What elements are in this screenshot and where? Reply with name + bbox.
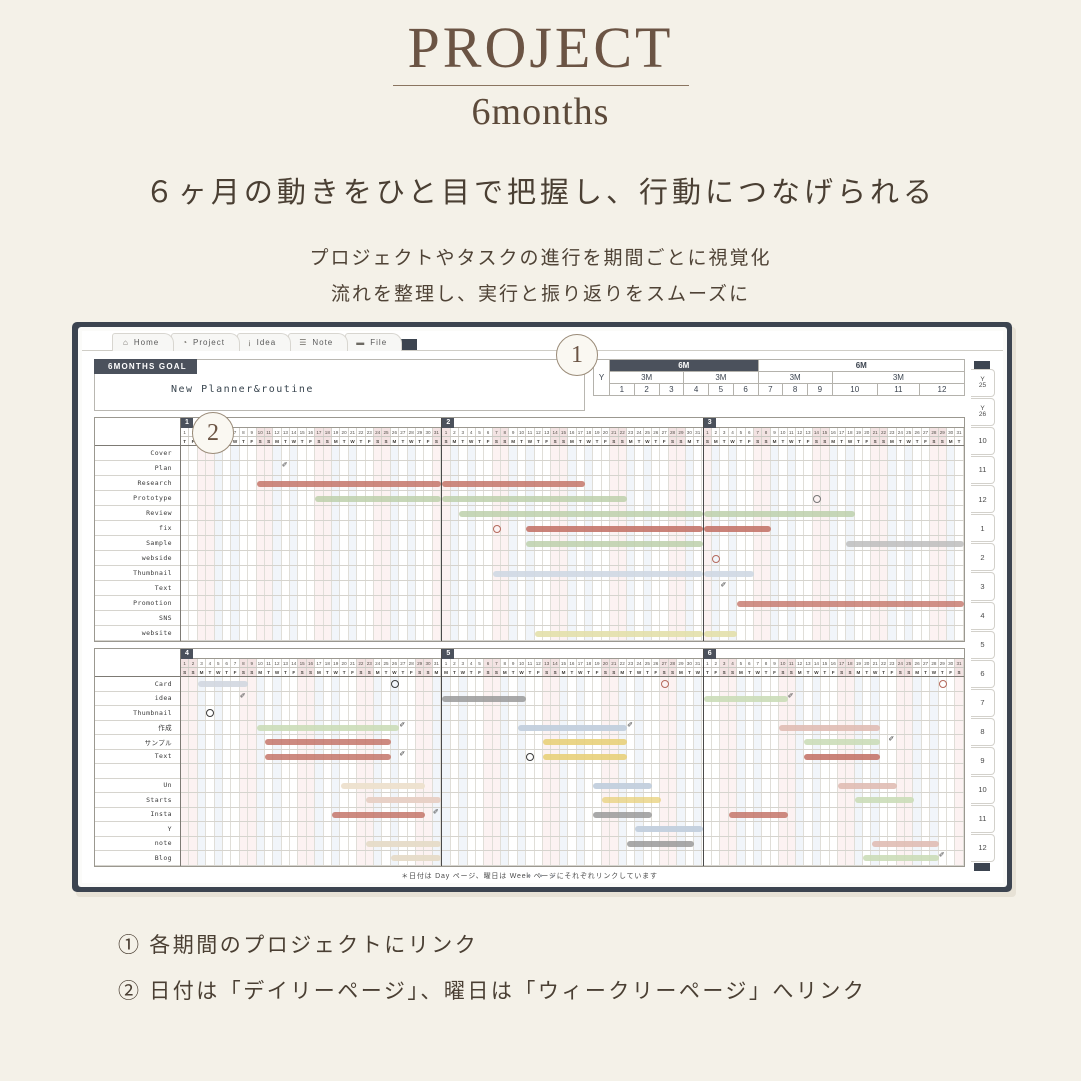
gantt-cell[interactable]: [888, 822, 896, 836]
gantt-cell[interactable]: [307, 611, 315, 625]
gantt-cell[interactable]: [602, 837, 610, 851]
gantt-cell[interactable]: [551, 677, 559, 691]
day-number[interactable]: 20: [863, 428, 871, 436]
weekday-letter[interactable]: T: [686, 668, 694, 676]
gantt-cell[interactable]: [922, 506, 930, 520]
gantt-cell[interactable]: [813, 581, 821, 595]
gantt-cell[interactable]: [947, 506, 955, 520]
day-number[interactable]: 14: [813, 428, 821, 436]
gantt-cell[interactable]: [644, 476, 652, 490]
gantt-cell[interactable]: [451, 566, 459, 580]
gantt-cell[interactable]: [871, 692, 879, 706]
gantt-cell[interactable]: [754, 581, 762, 595]
weekday-letter[interactable]: W: [635, 668, 643, 676]
gantt-cell[interactable]: [846, 476, 854, 490]
side-tab-12-16[interactable]: 12: [971, 834, 995, 862]
gantt-cell[interactable]: [771, 822, 779, 836]
gantt-cell[interactable]: [939, 808, 947, 822]
gantt-cell[interactable]: [635, 551, 643, 565]
day-number[interactable]: 29: [939, 428, 947, 436]
weekday-letter[interactable]: M: [198, 668, 206, 676]
gantt-cell[interactable]: [804, 566, 812, 580]
gantt-track-row[interactable]: [181, 626, 441, 641]
gantt-cell[interactable]: [543, 446, 551, 460]
gantt-cell[interactable]: [391, 461, 399, 475]
gantt-cell[interactable]: [324, 596, 332, 610]
gantt-cell[interactable]: [947, 551, 955, 565]
gantt-cell[interactable]: [720, 476, 728, 490]
gantt-cell[interactable]: [669, 476, 677, 490]
gantt-cell[interactable]: [181, 596, 189, 610]
gantt-cell[interactable]: [399, 506, 407, 520]
day-number[interactable]: 30: [686, 428, 694, 436]
gantt-cell[interactable]: [206, 851, 214, 865]
gantt-cell[interactable]: [754, 779, 762, 793]
gantt-cell[interactable]: [686, 851, 694, 865]
gantt-cell[interactable]: [416, 506, 424, 520]
gantt-cell[interactable]: [290, 851, 298, 865]
gantt-cell[interactable]: [704, 764, 712, 778]
gantt-cell[interactable]: [433, 461, 441, 475]
gantt-cell[interactable]: [804, 793, 812, 807]
gantt-cell[interactable]: [821, 536, 829, 550]
tab-note[interactable]: ☰Note: [288, 333, 348, 351]
gantt-cell[interactable]: [298, 764, 306, 778]
gantt-cell[interactable]: [905, 566, 913, 580]
gantt-cell[interactable]: [694, 793, 702, 807]
month-cell-7[interactable]: 7: [758, 384, 783, 396]
gantt-cell[interactable]: [720, 596, 728, 610]
gantt-cell[interactable]: [442, 677, 450, 691]
weekday-letter[interactable]: S: [939, 437, 947, 445]
gantt-cell[interactable]: [357, 764, 365, 778]
gantt-cell[interactable]: [871, 677, 879, 691]
weekday-letter[interactable]: S: [382, 437, 390, 445]
gantt-cell[interactable]: [922, 521, 930, 535]
gantt-cell[interactable]: [955, 851, 963, 865]
gantt-cell[interactable]: [871, 491, 879, 505]
gantt-cell[interactable]: [509, 793, 517, 807]
gantt-cell[interactable]: [880, 750, 888, 764]
gantt-cell[interactable]: [838, 837, 846, 851]
gantt-cell[interactable]: [804, 692, 812, 706]
gantt-cell[interactable]: [189, 506, 197, 520]
weekday-letter[interactable]: W: [930, 668, 938, 676]
day-number[interactable]: 27: [660, 428, 668, 436]
gantt-cell[interactable]: [788, 446, 796, 460]
weekday-letter[interactable]: S: [821, 437, 829, 445]
gantt-cell[interactable]: [897, 822, 905, 836]
gantt-cell[interactable]: [240, 596, 248, 610]
day-number[interactable]: 10: [779, 428, 787, 436]
gantt-cell[interactable]: [408, 677, 416, 691]
gantt-cell[interactable]: [290, 822, 298, 836]
weekday-letter[interactable]: T: [399, 437, 407, 445]
gantt-cell[interactable]: [577, 793, 585, 807]
gantt-cell[interactable]: [265, 793, 273, 807]
gantt-cell[interactable]: [947, 566, 955, 580]
weekday-letter-row[interactable]: SMTWTFSSMTWTFSSMTWTFSSMTWTFSSMT: [442, 437, 702, 446]
gantt-cell[interactable]: [223, 491, 231, 505]
day-number[interactable]: 9: [248, 659, 256, 667]
gantt-bar[interactable]: [593, 783, 652, 789]
gantt-cell[interactable]: [939, 506, 947, 520]
gantt-cell[interactable]: [788, 677, 796, 691]
gantt-cell[interactable]: [686, 476, 694, 490]
gantt-cell[interactable]: [947, 446, 955, 460]
day-number[interactable]: 24: [897, 428, 905, 436]
day-number[interactable]: 12: [796, 659, 804, 667]
gantt-cell[interactable]: [416, 566, 424, 580]
gantt-cell[interactable]: [838, 677, 846, 691]
gantt-cell[interactable]: [660, 721, 668, 735]
weekday-letter[interactable]: S: [838, 668, 846, 676]
gantt-cell[interactable]: [686, 581, 694, 595]
gantt-cell[interactable]: [888, 476, 896, 490]
gantt-cell[interactable]: [568, 779, 576, 793]
gantt-cell[interactable]: [298, 793, 306, 807]
gantt-cell[interactable]: [459, 581, 467, 595]
day-number[interactable]: 7: [754, 428, 762, 436]
gantt-cell[interactable]: [788, 808, 796, 822]
gantt-cell[interactable]: [366, 692, 374, 706]
gantt-cell[interactable]: [771, 764, 779, 778]
gantt-cell[interactable]: [476, 764, 484, 778]
gantt-cell[interactable]: [863, 764, 871, 778]
gantt-cell[interactable]: [729, 706, 737, 720]
gantt-cell[interactable]: [273, 706, 281, 720]
gantt-cell[interactable]: [644, 491, 652, 505]
gantt-cell[interactable]: [340, 822, 348, 836]
gantt-cell[interactable]: [223, 596, 231, 610]
gantt-cell[interactable]: [468, 536, 476, 550]
gantt-cell[interactable]: [577, 692, 585, 706]
gantt-bar[interactable]: [838, 783, 897, 789]
gantt-cell[interactable]: [712, 611, 720, 625]
gantt-cell[interactable]: [357, 551, 365, 565]
gantt-cell[interactable]: [382, 446, 390, 460]
side-tab-y25-0[interactable]: Y25: [971, 369, 995, 397]
weekday-letter[interactable]: T: [922, 668, 930, 676]
day-number[interactable]: 2: [451, 659, 459, 667]
gantt-cell[interactable]: [930, 677, 938, 691]
gantt-cell[interactable]: [501, 764, 509, 778]
gantt-cell[interactable]: [568, 851, 576, 865]
gantt-cell[interactable]: [206, 750, 214, 764]
gantt-cell[interactable]: [198, 735, 206, 749]
gantt-cell[interactable]: [855, 446, 863, 460]
gantt-cell[interactable]: [248, 506, 256, 520]
gantt-cell[interactable]: [704, 779, 712, 793]
gantt-cell[interactable]: [307, 581, 315, 595]
gantt-cell[interactable]: [349, 461, 357, 475]
gantt-cell[interactable]: [189, 750, 197, 764]
day-number[interactable]: 15: [298, 659, 306, 667]
gantt-cell[interactable]: [315, 779, 323, 793]
gantt-cell[interactable]: [660, 596, 668, 610]
gantt-cell[interactable]: [947, 706, 955, 720]
weekday-letter[interactable]: M: [619, 668, 627, 676]
gantt-cell[interactable]: [273, 521, 281, 535]
gantt-cell[interactable]: [813, 837, 821, 851]
gantt-cell[interactable]: [610, 611, 618, 625]
gantt-track-row[interactable]: [442, 461, 702, 476]
gantt-cell[interactable]: [694, 764, 702, 778]
gantt-cell[interactable]: [788, 851, 796, 865]
gantt-cell[interactable]: [660, 706, 668, 720]
gantt-cell[interactable]: [298, 461, 306, 475]
gantt-cell[interactable]: [315, 506, 323, 520]
gantt-cell[interactable]: [754, 491, 762, 505]
day-number[interactable]: 13: [543, 659, 551, 667]
gantt-cell[interactable]: [223, 822, 231, 836]
gantt-cell[interactable]: [391, 536, 399, 550]
weekday-letter[interactable]: S: [374, 437, 382, 445]
gantt-cell[interactable]: [577, 837, 585, 851]
gantt-cell[interactable]: [223, 808, 231, 822]
weekday-letter[interactable]: M: [568, 437, 576, 445]
gantt-cell[interactable]: [955, 476, 963, 490]
gantt-cell[interactable]: [240, 521, 248, 535]
gantt-cell[interactable]: [476, 851, 484, 865]
gantt-cell[interactable]: [298, 692, 306, 706]
gantt-cell[interactable]: [442, 611, 450, 625]
gantt-cell[interactable]: [231, 566, 239, 580]
gantt-cell[interactable]: [366, 822, 374, 836]
gantt-cell[interactable]: [880, 491, 888, 505]
day-number[interactable]: 31: [433, 659, 441, 667]
gantt-cell[interactable]: [535, 735, 543, 749]
gantt-bar[interactable]: [872, 841, 939, 847]
gantt-cell[interactable]: [720, 536, 728, 550]
weekday-letter[interactable]: W: [459, 668, 467, 676]
gantt-cell[interactable]: [442, 536, 450, 550]
gantt-cell[interactable]: [846, 764, 854, 778]
gantt-cell[interactable]: [332, 692, 340, 706]
day-number[interactable]: 27: [922, 428, 930, 436]
day-number[interactable]: 11: [526, 428, 534, 436]
gantt-cell[interactable]: [416, 677, 424, 691]
gantt-cell[interactable]: [493, 611, 501, 625]
day-number[interactable]: 31: [694, 428, 702, 436]
gantt-cell[interactable]: [181, 446, 189, 460]
gantt-cell[interactable]: [585, 706, 593, 720]
gantt-cell[interactable]: [771, 735, 779, 749]
gantt-cell[interactable]: [265, 706, 273, 720]
gantt-cell[interactable]: [804, 706, 812, 720]
gantt-cell[interactable]: [468, 750, 476, 764]
gantt-cell[interactable]: [459, 461, 467, 475]
gantt-cell[interactable]: [746, 611, 754, 625]
gantt-cell[interactable]: [669, 779, 677, 793]
quarter-cell-2[interactable]: 3M: [758, 372, 832, 384]
gantt-cell[interactable]: [206, 536, 214, 550]
gantt-cell[interactable]: [374, 764, 382, 778]
weekday-letter[interactable]: T: [324, 668, 332, 676]
gantt-cell[interactable]: [821, 837, 829, 851]
gantt-cell[interactable]: [282, 506, 290, 520]
gantt-cell[interactable]: [846, 706, 854, 720]
gantt-cell[interactable]: [905, 779, 913, 793]
gantt-cell[interactable]: [694, 461, 702, 475]
gantt-cell[interactable]: [830, 461, 838, 475]
gantt-cell[interactable]: [922, 566, 930, 580]
gantt-cell[interactable]: [484, 793, 492, 807]
day-number[interactable]: 11: [788, 659, 796, 667]
gantt-cell[interactable]: [913, 721, 921, 735]
gantt-cell[interactable]: [635, 596, 643, 610]
gantt-bar[interactable]: [593, 812, 652, 818]
gantt-cell[interactable]: [357, 706, 365, 720]
gantt-cell[interactable]: [855, 808, 863, 822]
gantt-cell[interactable]: [240, 626, 248, 640]
weekday-letter[interactable]: T: [796, 437, 804, 445]
gantt-cell[interactable]: [830, 491, 838, 505]
gantt-cell[interactable]: [813, 706, 821, 720]
gantt-cell[interactable]: [535, 851, 543, 865]
day-number[interactable]: 22: [619, 659, 627, 667]
gantt-cell[interactable]: [307, 461, 315, 475]
side-tab-3-7[interactable]: 3: [971, 572, 995, 600]
gantt-cell[interactable]: [340, 793, 348, 807]
gantt-cell[interactable]: [223, 750, 231, 764]
gantt-cell[interactable]: [754, 764, 762, 778]
gantt-cell[interactable]: [240, 808, 248, 822]
gantt-cell[interactable]: [585, 779, 593, 793]
weekday-letter[interactable]: W: [273, 668, 281, 676]
gantt-cell[interactable]: [265, 461, 273, 475]
gantt-cell[interactable]: [627, 677, 635, 691]
gantt-track-row[interactable]: [442, 446, 702, 461]
gantt-cell[interactable]: [248, 764, 256, 778]
gantt-track-row[interactable]: [442, 581, 702, 596]
gantt-cell[interactable]: [349, 536, 357, 550]
day-number[interactable]: 16: [568, 428, 576, 436]
gantt-cell[interactable]: [206, 491, 214, 505]
weekday-letter[interactable]: M: [273, 437, 281, 445]
tab-project[interactable]: ◔Project: [171, 333, 240, 351]
day-number[interactable]: 30: [424, 659, 432, 667]
gantt-cell[interactable]: [493, 750, 501, 764]
day-number[interactable]: 30: [424, 428, 432, 436]
gantt-cell[interactable]: [897, 521, 905, 535]
gantt-cell[interactable]: [476, 581, 484, 595]
gantt-cell[interactable]: [897, 611, 905, 625]
gantt-cell[interactable]: [779, 851, 787, 865]
gantt-cell[interactable]: [704, 706, 712, 720]
gantt-track-row[interactable]: [704, 779, 964, 794]
weekday-letter[interactable]: T: [265, 668, 273, 676]
gantt-track-row[interactable]: [704, 461, 964, 476]
weekday-letter[interactable]: T: [577, 437, 585, 445]
weekday-letter[interactable]: S: [762, 437, 770, 445]
gantt-cell[interactable]: [332, 837, 340, 851]
weekday-letter[interactable]: F: [888, 668, 896, 676]
gantt-cell[interactable]: [501, 461, 509, 475]
gantt-cell[interactable]: [382, 851, 390, 865]
gantt-cell[interactable]: [955, 808, 963, 822]
gantt-cell[interactable]: [627, 446, 635, 460]
gantt-cell[interactable]: [619, 611, 627, 625]
gantt-cell[interactable]: [215, 706, 223, 720]
weekday-letter-row[interactable]: SSMTWTFSSMTWTFSSMTWTFSSMTWTFSSM: [181, 668, 441, 677]
gantt-cell[interactable]: [198, 822, 206, 836]
gantt-cell[interactable]: [627, 692, 635, 706]
gantt-cell[interactable]: [694, 779, 702, 793]
gantt-cell[interactable]: [880, 764, 888, 778]
gantt-cell[interactable]: [897, 461, 905, 475]
weekday-letter[interactable]: S: [366, 668, 374, 676]
gantt-cell[interactable]: [416, 692, 424, 706]
gantt-cell[interactable]: [796, 822, 804, 836]
gantt-cell[interactable]: [913, 677, 921, 691]
gantt-cell[interactable]: [930, 779, 938, 793]
day-number[interactable]: 2: [451, 428, 459, 436]
month-cell-1[interactable]: 1: [610, 384, 635, 396]
gantt-cell[interactable]: [838, 626, 846, 640]
gantt-cell[interactable]: [888, 626, 896, 640]
weekday-letter[interactable]: S: [905, 668, 913, 676]
gantt-cell[interactable]: [543, 851, 551, 865]
gantt-cell[interactable]: [863, 706, 871, 720]
gantt-cell[interactable]: [189, 626, 197, 640]
gantt-cell[interactable]: [888, 764, 896, 778]
gantt-cell[interactable]: [796, 581, 804, 595]
gantt-cell[interactable]: [408, 581, 416, 595]
gantt-track-row[interactable]: [181, 764, 441, 779]
gantt-cell[interactable]: [535, 706, 543, 720]
gantt-cell[interactable]: [433, 822, 441, 836]
gantt-cell[interactable]: [913, 692, 921, 706]
gantt-cell[interactable]: [181, 677, 189, 691]
gantt-cell[interactable]: [518, 611, 526, 625]
gantt-cell[interactable]: [257, 822, 265, 836]
gantt-cell[interactable]: [298, 551, 306, 565]
gantt-cell[interactable]: [737, 551, 745, 565]
gantt-cell[interactable]: [382, 566, 390, 580]
weekday-letter[interactable]: S: [610, 437, 618, 445]
gantt-bar[interactable]: [704, 571, 754, 577]
day-number[interactable]: 7: [231, 659, 239, 667]
gantt-cell[interactable]: [374, 822, 382, 836]
gantt-track-row[interactable]: [704, 764, 964, 779]
gantt-cell[interactable]: [374, 551, 382, 565]
gantt-cell[interactable]: [257, 764, 265, 778]
gantt-cell[interactable]: [955, 735, 963, 749]
gantt-cell[interactable]: [433, 536, 441, 550]
gantt-cell[interactable]: [577, 551, 585, 565]
gantt-cell[interactable]: [501, 551, 509, 565]
gantt-bar[interactable]: [341, 783, 425, 789]
gantt-cell[interactable]: [391, 706, 399, 720]
day-number[interactable]: 20: [340, 428, 348, 436]
day-number[interactable]: 31: [955, 428, 963, 436]
gantt-cell[interactable]: [215, 808, 223, 822]
day-number[interactable]: 29: [416, 428, 424, 436]
gantt-cell[interactable]: [282, 677, 290, 691]
gantt-cell[interactable]: [585, 581, 593, 595]
gantt-cell[interactable]: [754, 735, 762, 749]
day-number[interactable]: 6: [484, 659, 492, 667]
gantt-cell[interactable]: [282, 446, 290, 460]
gantt-cell[interactable]: [433, 692, 441, 706]
quarter-cell-1[interactable]: 3M: [684, 372, 758, 384]
gantt-cell[interactable]: [677, 692, 685, 706]
day-number[interactable]: 22: [357, 428, 365, 436]
gantt-cell[interactable]: [635, 706, 643, 720]
gantt-cell[interactable]: [913, 491, 921, 505]
gantt-cell[interactable]: [340, 677, 348, 691]
